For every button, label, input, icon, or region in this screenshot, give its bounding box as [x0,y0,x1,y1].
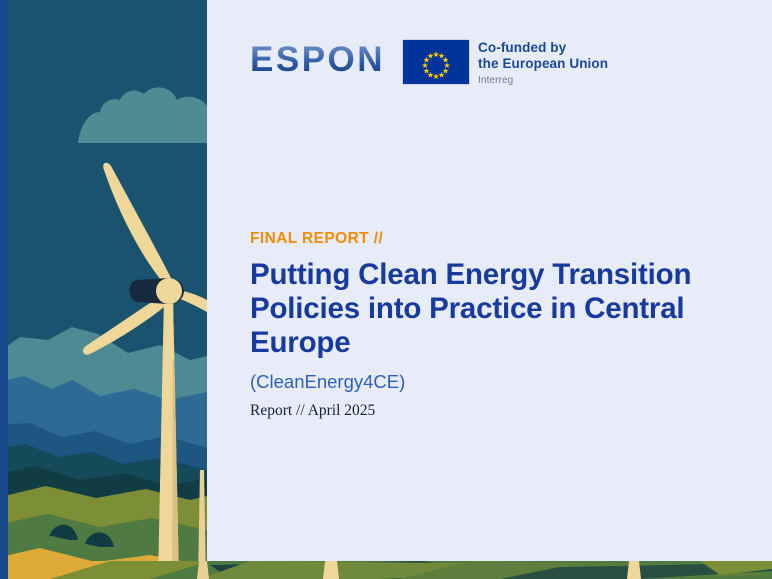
title-block: FINAL REPORT // Putting Clean Energy Tra… [250,230,720,420]
eu-funding-block: Co-funded by the European Union Interreg [403,40,608,87]
bottom-landscape-band [0,561,772,579]
content-panel: ESPON [207,0,772,562]
wind-turbine-landscape-illustration [0,0,207,579]
espon-logo: ESPON [250,38,385,77]
eu-funding-line1: Co-funded by [478,40,608,56]
interreg-label: Interreg [478,75,608,87]
eu-funding-text: Co-funded by the European Union Interreg [478,40,608,87]
left-accent-stripe [0,0,8,579]
report-date-line: Report // April 2025 [250,402,720,420]
eu-flag-icon [403,40,469,84]
report-kicker: FINAL REPORT // [250,230,720,248]
logo-header: ESPON [250,38,608,87]
project-acronym: (CleanEnergy4CE) [250,371,720,393]
bottom-band-svg [0,561,772,579]
eu-funding-line2: the European Union [478,56,608,72]
illustration-svg [0,0,207,579]
cover-page: ESPON [0,0,772,579]
page-title: Putting Clean Energy Transition Policies… [250,258,720,361]
